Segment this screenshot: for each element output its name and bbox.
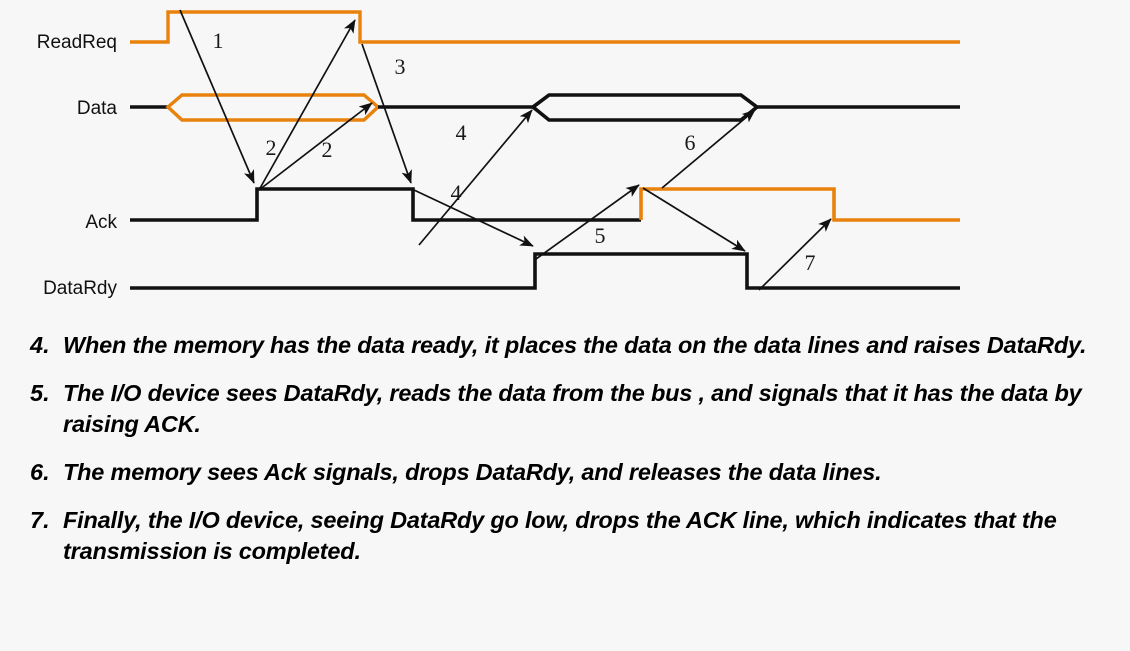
signal-label-ack: Ack [85, 212, 117, 233]
causal-arrow-4b [419, 110, 532, 245]
step-marker-7: 7 [805, 250, 816, 275]
causal-arrow-6a [643, 188, 745, 251]
list-item-number: 7. [30, 505, 63, 536]
waveform-data-bus-1 [168, 95, 378, 120]
step-marker-5: 5 [595, 223, 606, 248]
list-item: 5. The I/O device sees DataRdy, reads th… [0, 378, 1130, 440]
list-item: 4. When the memory has the data ready, i… [0, 330, 1130, 361]
list-item: 7. Finally, the I/O device, seeing DataR… [0, 505, 1130, 567]
waveform-readreq-trace [130, 12, 960, 42]
list-item-text: When the memory has the data ready, it p… [63, 330, 1086, 361]
step-marker-2a: 2 [266, 135, 277, 160]
causal-arrow-4a [414, 190, 533, 246]
causal-arrows [180, 10, 831, 290]
causal-arrow-5 [536, 185, 639, 259]
signal-label-data: Data [77, 98, 118, 119]
causal-arrow-7 [759, 219, 831, 290]
waveform-readreq [130, 12, 960, 42]
list-item-number: 4. [30, 330, 63, 361]
waveform-data [130, 95, 960, 120]
step-marker-2b: 2 [322, 137, 333, 162]
causal-arrow-2a [259, 20, 355, 190]
protocol-steps-list: 4. When the memory has the data ready, i… [0, 330, 1130, 584]
step-marker-4b: 4 [451, 180, 462, 205]
list-item-text: The I/O device sees DataRdy, reads the d… [63, 378, 1112, 440]
step-marker-3: 3 [395, 54, 406, 79]
list-item: 6. The memory sees Ack signals, drops Da… [0, 457, 1130, 488]
waveform-ack [130, 189, 960, 220]
waveform-ack-trace-black [130, 189, 641, 220]
waveform-datardy [130, 254, 960, 288]
waveform-datardy-trace [130, 254, 960, 288]
step-marker-4a: 4 [456, 120, 467, 145]
list-item-text: Finally, the I/O device, seeing DataRdy … [63, 505, 1112, 567]
step-marker-1: 1 [213, 28, 224, 53]
timing-diagram: ReadReq Data Ack DataRdy [0, 0, 1130, 320]
list-item-number: 5. [30, 378, 63, 409]
step-marker-6: 6 [685, 130, 696, 155]
list-item-number: 6. [30, 457, 63, 488]
list-item-text: The memory sees Ack signals, drops DataR… [63, 457, 881, 488]
signal-label-datardy: DataRdy [43, 278, 117, 299]
waveform-data-bus-2 [533, 95, 757, 120]
signal-label-readreq: ReadReq [37, 32, 117, 53]
slide-canvas: ReadReq Data Ack DataRdy [0, 0, 1130, 651]
